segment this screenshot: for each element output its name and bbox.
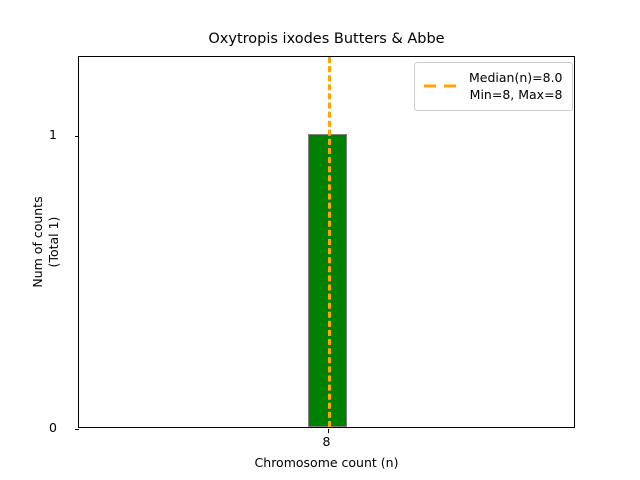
- chart-figure: Oxytropis ixodes Butters & Abbe 01 8 Num…: [0, 0, 640, 480]
- y-tick-mark-1: [75, 136, 79, 137]
- y-axis-label-line-2: (Total 1): [46, 56, 62, 428]
- median-line: [328, 57, 331, 427]
- dashed-line-icon: [424, 80, 460, 92]
- y-axis-label-line-1: Num of counts: [30, 56, 46, 428]
- bars-layer: [79, 57, 574, 427]
- legend-line-1: Median(n)=8.0: [469, 69, 563, 86]
- chart-title: Oxytropis ixodes Butters & Abbe: [78, 30, 575, 48]
- legend-entry-median: Median(n)=8.0 Min=8, Max=8: [424, 69, 563, 103]
- plot-area: [78, 56, 575, 428]
- x-tick-mark-8: [328, 429, 329, 433]
- y-axis-label: Num of counts (Total 1): [30, 56, 70, 428]
- x-axis-label: Chromosome count (n): [78, 455, 575, 470]
- x-tick-label-8: 8: [323, 434, 331, 449]
- legend-entry-text: Median(n)=8.0 Min=8, Max=8: [469, 69, 563, 103]
- chart-legend: Median(n)=8.0 Min=8, Max=8: [414, 62, 573, 111]
- y-tick-mark-0: [75, 429, 79, 430]
- legend-line-2: Min=8, Max=8: [469, 86, 563, 103]
